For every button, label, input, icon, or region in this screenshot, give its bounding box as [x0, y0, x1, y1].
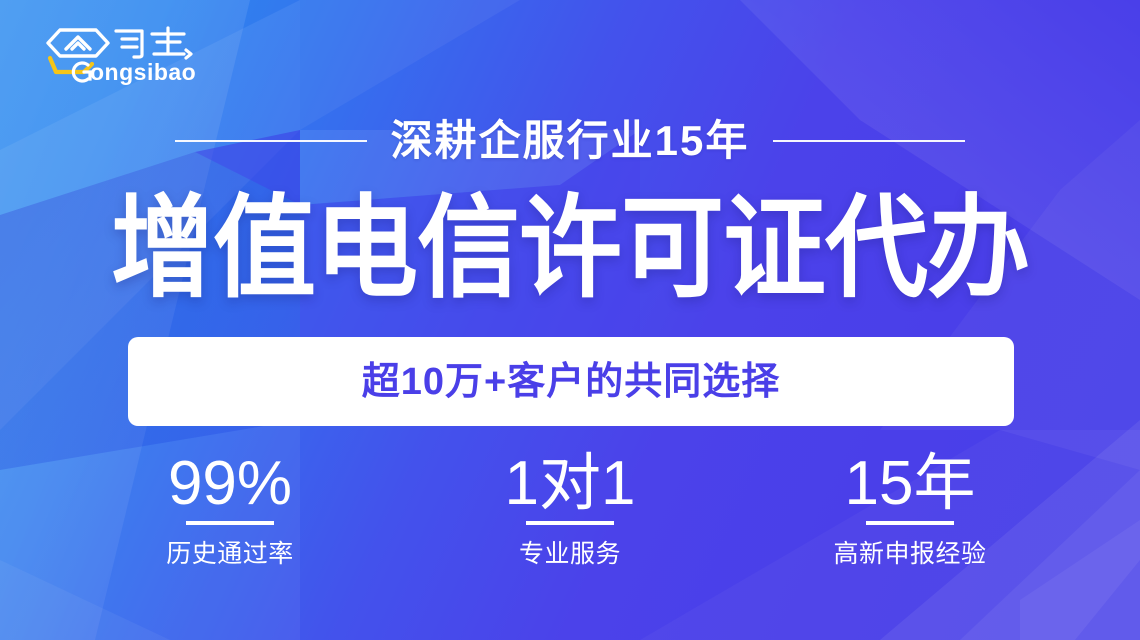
- stat-underline: [866, 521, 954, 525]
- stat-item: 99% 历史通过率: [60, 452, 400, 567]
- stat-underline: [526, 521, 614, 525]
- stat-value: 15年: [845, 452, 976, 515]
- gongsibao-logo[interactable]: ongsibao: [38, 24, 208, 86]
- highlight-pill-text: 超10万+客户的共同选择: [362, 363, 780, 401]
- highlight-pill: 超10万+客户的共同选择: [128, 337, 1014, 426]
- hexagon-logo-icon: [48, 30, 108, 56]
- stat-label: 高新申报经验: [833, 542, 986, 567]
- rule-left-icon: [175, 140, 367, 142]
- subtitle-row: 深耕企服行业15年: [0, 108, 1140, 174]
- stat-label: 专业服务: [519, 542, 621, 567]
- stat-underline: [186, 521, 274, 525]
- promo-banner: ongsibao 深耕企服行业15年 增值电信许可证代办 超10万+客户的共同选…: [0, 0, 1140, 640]
- stat-value: 99%: [168, 452, 292, 515]
- svg-text:ongsibao: ongsibao: [90, 59, 196, 85]
- stat-value: 1对1: [505, 452, 636, 515]
- stats-row: 99% 历史通过率 1对1 专业服务 15年 高新申报经验: [60, 452, 1080, 592]
- gongsibao-wordmark: ongsibao: [90, 59, 196, 85]
- stat-item: 15年 高新申报经验: [740, 452, 1080, 567]
- banner-headline: 增值电信许可证代办: [0, 186, 1140, 311]
- banner-subtitle: 深耕企服行业15年: [391, 120, 750, 162]
- stat-label: 历史通过率: [166, 542, 294, 567]
- stat-item: 1对1 专业服务: [400, 452, 740, 567]
- rule-right-icon: [773, 140, 965, 142]
